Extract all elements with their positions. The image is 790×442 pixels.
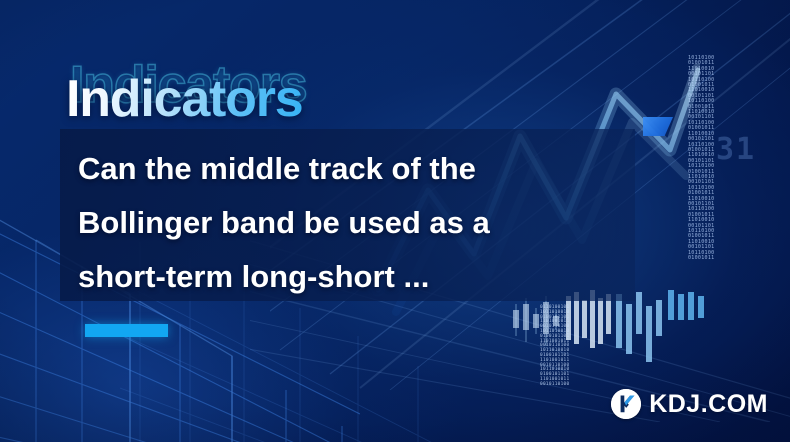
headline: Can the middle track of the Bollinger ba… — [78, 142, 623, 304]
page-title: Indicators — [66, 68, 303, 130]
headline-line-3: short-term long-short ... — [78, 250, 623, 304]
article-banner: 10110100 01001011 11010010 00101101 1011… — [0, 0, 790, 442]
brand-mark-icon — [611, 389, 641, 419]
headline-line-2: Bollinger band be used as a — [78, 196, 623, 250]
headline-line-1: Can the middle track of the — [78, 142, 623, 196]
brand-name: KDJ.COM — [649, 389, 768, 419]
accent-underline — [85, 324, 168, 337]
brand-logo[interactable]: KDJ.COM — [611, 389, 768, 419]
